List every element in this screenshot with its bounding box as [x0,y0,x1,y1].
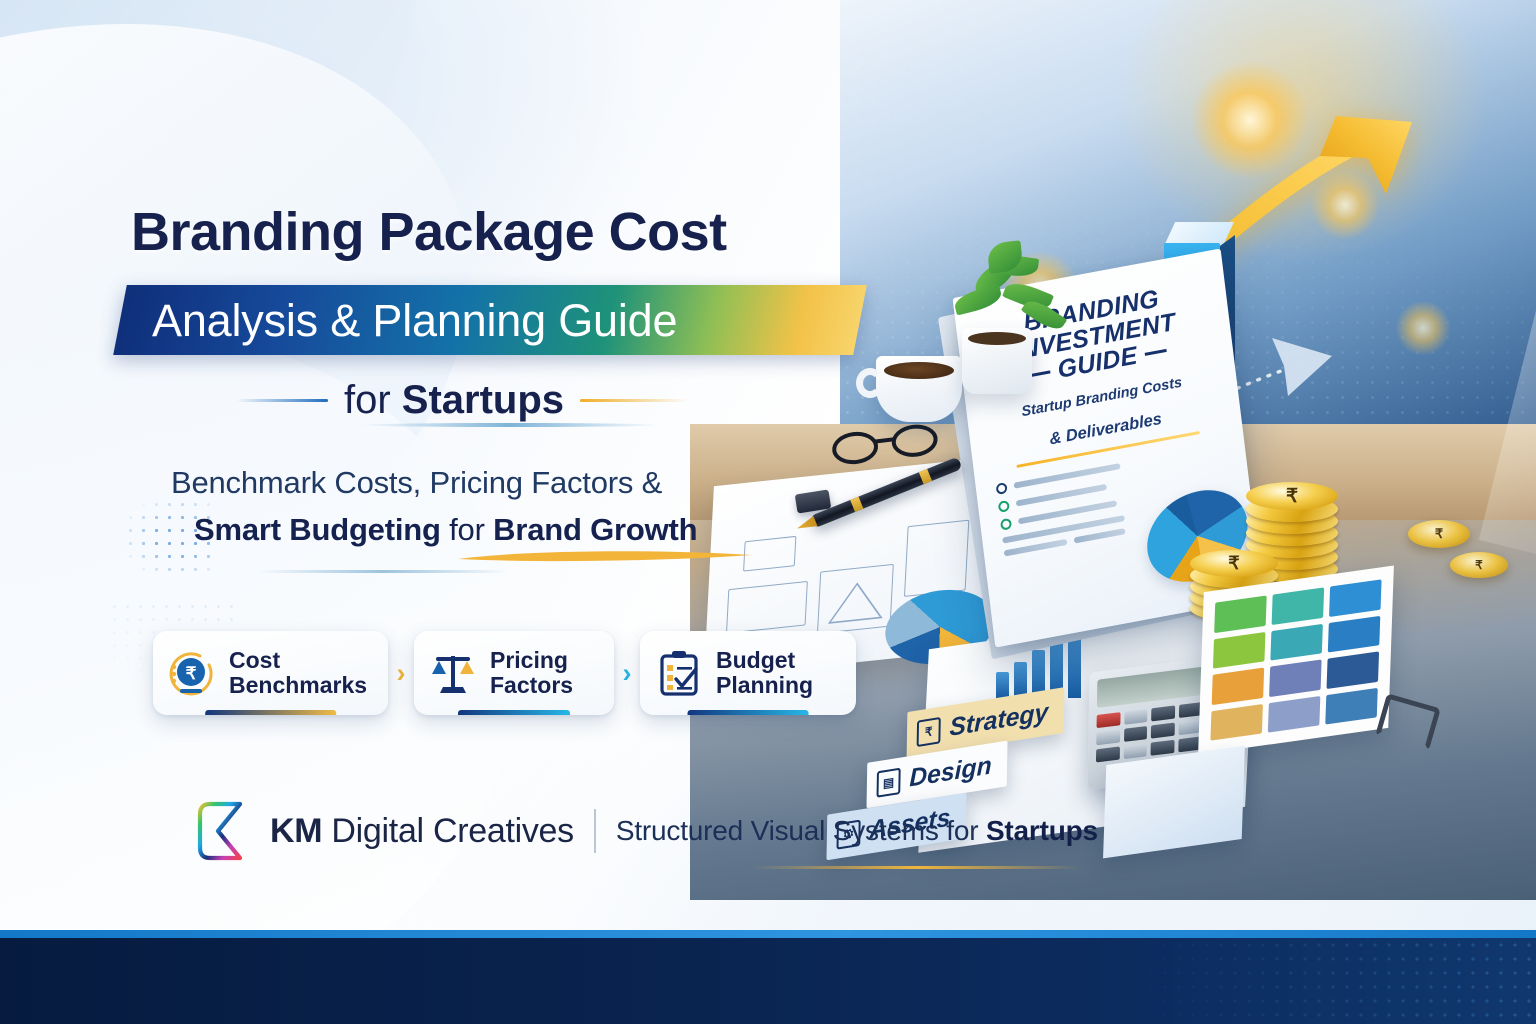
branding-banner: BRANDING INVESTMENT GUIDE Startup Brandi… [0,0,1536,1024]
bottom-bar-dot-pattern [1116,938,1536,1024]
color-swatch [1328,615,1381,652]
card-accent-bar [458,710,570,715]
subtitle-line-2: Smart Budgeting for Brand Growth [194,512,697,548]
coffee-cup [876,356,962,422]
rule-gold [580,399,688,403]
placeholder-line [1074,528,1126,543]
rupee-coin-loose: ₹ [1408,520,1470,548]
color-swatch [1269,659,1322,696]
title-under-arc [360,423,660,427]
subtitle-bold-2: Brand Growth [493,512,697,547]
check-icon [1000,518,1012,531]
cup-handle [856,368,884,398]
rupee-coin-face: ₹ [1190,550,1278,577]
color-swatch [1270,623,1323,660]
calculator-key [1096,729,1120,745]
color-swatch [1272,587,1325,624]
card-budget-planning-label: Budget Planning [716,648,813,698]
rupee-coin-face: ₹ [1246,482,1338,510]
color-swatch [1327,651,1380,688]
color-swatch [1213,631,1266,668]
color-swatch [1212,667,1265,704]
color-swatch [1329,579,1382,616]
tagline-prefix: Structured Visual Systems for [616,815,986,846]
bottom-bar [0,938,1536,1024]
check-icon [996,482,1008,495]
tagline-bold: Startups [986,815,1098,846]
calculator-key [1124,726,1148,742]
color-swatch [1268,695,1321,732]
feature-card-row: ₹ Cost Benchmarks › [153,631,856,715]
calculator-key [1096,746,1120,762]
subtitle-line-1: Benchmark Costs, Pricing Factors & [171,465,662,501]
tag-strategy-label: Strategy [949,698,1048,743]
balance-scale-icon [428,648,478,698]
startups-bold: Startups [402,378,564,422]
layout-doc-icon: ▤ [877,767,901,797]
color-swatch [1325,687,1378,724]
brand-name: KM Digital Creatives [270,812,574,851]
rupee-doc-icon: ₹ [917,716,941,746]
footer-divider [594,809,596,853]
rupee-coin-icon: ₹ [167,648,217,698]
for-startups-row: for Startups [236,378,776,423]
color-swatch-card [1198,565,1394,754]
for-startups-text: for Startups [344,378,564,423]
lens-right [890,422,940,459]
coffee-liquid [884,362,954,379]
plant-pot [962,328,1032,394]
subtitle-bold-1: Smart Budgeting [194,512,441,547]
clipboard-check-icon [654,648,704,698]
subtitle-mid: for [441,512,493,547]
svg-text:₹: ₹ [186,664,197,683]
plant-soil [968,332,1026,345]
check-icon [998,500,1010,513]
calculator-key [1124,709,1148,725]
card-cost-benchmarks[interactable]: ₹ Cost Benchmarks [153,631,388,715]
card-cost-benchmarks-label: Cost Benchmarks [229,648,367,698]
footer-brand-row: KM Digital Creatives Structured Visual S… [196,800,1098,862]
subtitle-gold-swoosh [456,548,756,563]
lens-left [830,429,880,466]
card-budget-planning[interactable]: Budget Planning [640,631,856,715]
card-pricing-factors[interactable]: Pricing Factors [414,631,614,715]
color-swatch [1214,595,1267,632]
calculator-key [1151,740,1175,756]
brand-rest: Digital Creatives [322,812,574,850]
page-title: Branding Package Cost [131,205,727,259]
card-accent-bar [688,710,809,715]
title-band-text: Analysis & Planning Guide [152,292,872,351]
card-pricing-factors-label: Pricing Factors [490,648,573,698]
calculator-key [1151,705,1175,721]
brand-bold: KM [270,812,322,850]
footer-tagline: Structured Visual Systems for Startups [616,815,1098,847]
chevron-right-icon: › [614,658,640,689]
calculator-key [1123,743,1147,759]
calculator-key [1151,723,1175,739]
color-swatch [1210,704,1263,741]
chevron-right-icon: › [388,658,414,689]
bottom-accent-line [0,930,1536,938]
rupee-coin-loose: ₹ [1450,552,1508,578]
rule-blue [236,399,328,403]
km-bracket-logo-icon [196,800,250,862]
tag-design-label: Design [909,751,992,793]
subtitle-rule [258,570,508,573]
wireframe-sketch-icon [825,573,887,630]
for-prefix: for [344,378,402,422]
calculator-key [1097,712,1121,728]
footer-gold-rule [752,866,1082,869]
brochure-rule-right [1145,349,1167,356]
card-accent-bar [205,710,337,715]
